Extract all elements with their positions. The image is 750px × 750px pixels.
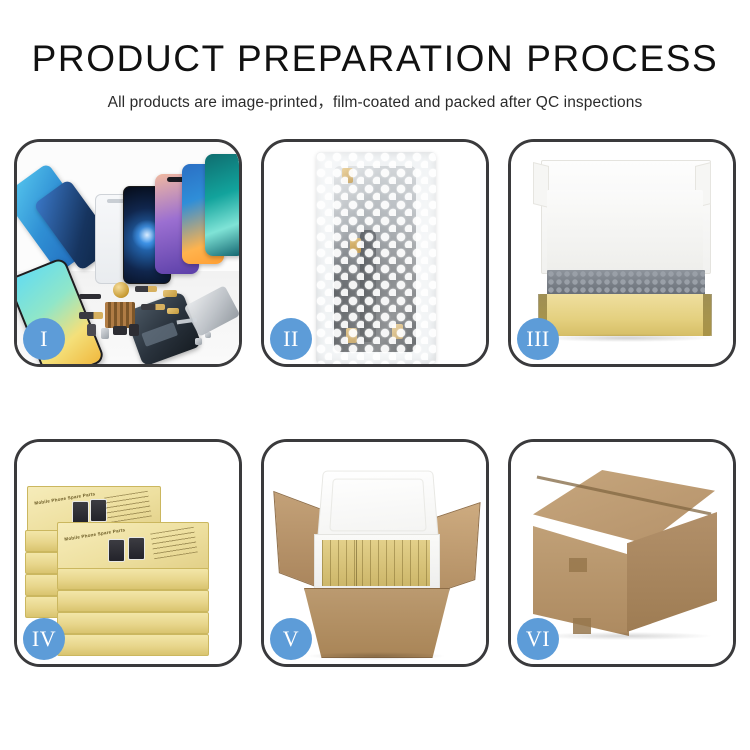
step-card-6: VI bbox=[508, 439, 736, 667]
step-card-3: III bbox=[508, 139, 736, 367]
step-badge-3: III bbox=[517, 318, 559, 360]
step-card-2: II bbox=[261, 139, 489, 367]
process-step-grid: I II bbox=[14, 139, 736, 667]
step-badge-6: VI bbox=[517, 618, 559, 660]
header: PRODUCT PREPARATION PROCESS All products… bbox=[0, 0, 750, 112]
page-subtitle: All products are image-printed，film-coat… bbox=[0, 77, 750, 112]
step-badge-4: IV bbox=[23, 618, 65, 660]
step-card-4: Mobile Phone Spare Parts Mobile Phone Sp… bbox=[14, 439, 242, 667]
product-preparation-infographic: PRODUCT PREPARATION PROCESS All products… bbox=[0, 0, 750, 750]
step-badge-5: V bbox=[270, 618, 312, 660]
step-card-1: I bbox=[14, 139, 242, 367]
step-badge-1: I bbox=[23, 318, 65, 360]
page-title: PRODUCT PREPARATION PROCESS bbox=[0, 0, 750, 77]
step-badge-2: II bbox=[270, 318, 312, 360]
step-card-5: V bbox=[261, 439, 489, 667]
